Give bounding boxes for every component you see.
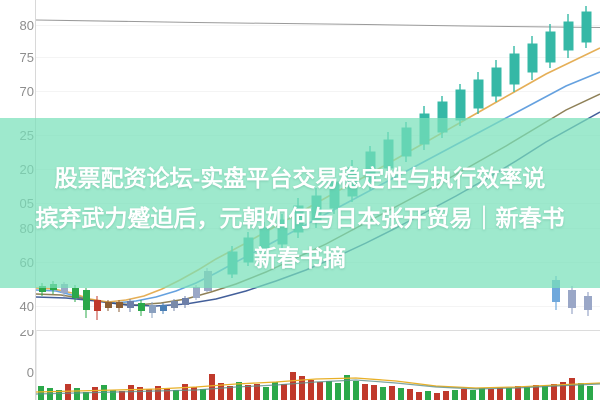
watermark-banner: 股票配资论坛-实盘平台交易稳定性与执行效率说 摈弃武力蹙迫后，元朝如何与日本张开… xyxy=(0,118,600,288)
volume-plot-area xyxy=(36,330,600,400)
watermark-line-3: 新春书摘 xyxy=(2,238,598,278)
volume-bar-series xyxy=(36,330,600,400)
chart-screenshot: 80 75 70 25 20 05 80 60 40 xyxy=(0,0,600,400)
volume-panel: 20 0 xyxy=(0,330,600,400)
watermark-line-1: 股票配资论坛-实盘平台交易稳定性与执行效率说 xyxy=(2,158,598,198)
ytick-vol-20: 20 xyxy=(0,330,34,338)
ytick-80a: 80 xyxy=(0,19,34,32)
ytick-vol-0: 0 xyxy=(0,366,34,379)
ytick-70: 70 xyxy=(0,85,34,98)
ytick-40: 40 xyxy=(0,300,34,313)
watermark-line-2: 摈弃武力蹙迫后，元朝如何与日本张开贸易｜新春书 xyxy=(2,198,598,238)
ytick-75: 75 xyxy=(0,51,34,64)
